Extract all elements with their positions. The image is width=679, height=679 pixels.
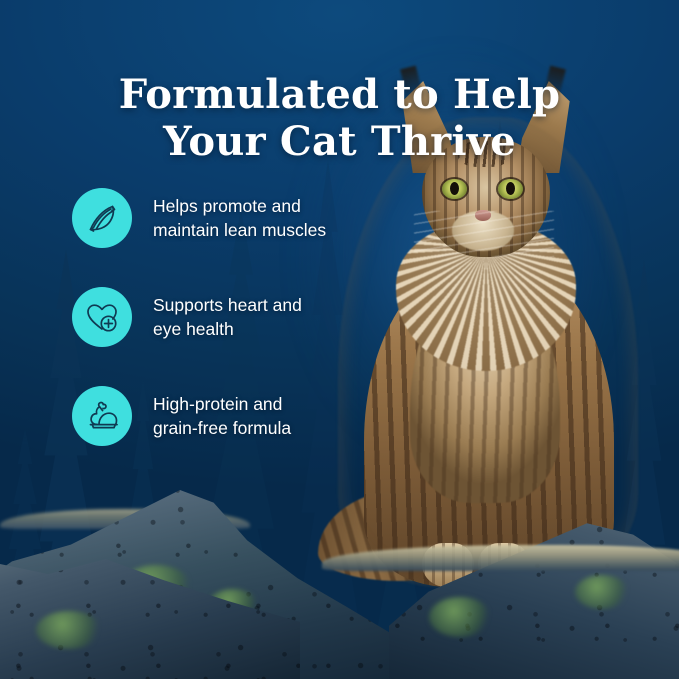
- promo-image: Formulated to Help Your Cat Thrive Helps…: [0, 0, 679, 679]
- feature-item-heart-eye: Supports heart and eye health: [72, 287, 372, 347]
- feature-item-muscles: Helps promote and maintain lean muscles: [72, 188, 372, 248]
- feature-text-muscles: Helps promote and maintain lean muscles: [153, 194, 326, 242]
- moss-patch: [429, 597, 491, 637]
- page-title: Formulated to Help Your Cat Thrive: [0, 71, 679, 165]
- muscle-icon: [83, 199, 121, 237]
- headline-line-1: Formulated to Help: [119, 71, 560, 118]
- feature-item-protein: High-protein and grain-free formula: [72, 386, 372, 446]
- moss-patch: [575, 575, 629, 609]
- feature-line-1: High-protein and: [153, 392, 291, 416]
- roast-poultry-icon-badge: [72, 386, 132, 446]
- headline-line-2: Your Cat Thrive: [60, 118, 619, 165]
- heart-plus-icon-badge: [72, 287, 132, 347]
- rock-boulder: [389, 489, 679, 679]
- muscle-icon-badge: [72, 188, 132, 248]
- feature-line-1: Supports heart and: [153, 293, 302, 317]
- rock-ledge: [322, 545, 679, 571]
- feature-line-2: maintain lean muscles: [153, 218, 326, 242]
- roast-poultry-icon: [83, 397, 121, 435]
- feature-text-protein: High-protein and grain-free formula: [153, 392, 291, 440]
- moss-patch: [36, 611, 102, 649]
- rock-foreground: [0, 444, 679, 679]
- feature-text-heart-eye: Supports heart and eye health: [153, 293, 302, 341]
- heart-plus-icon: [83, 298, 121, 336]
- rock-texture: [389, 489, 679, 679]
- feature-line-2: grain-free formula: [153, 416, 291, 440]
- feature-line-2: eye health: [153, 317, 302, 341]
- feature-list: Helps promote and maintain lean muscles …: [72, 188, 372, 446]
- feature-line-1: Helps promote and: [153, 194, 326, 218]
